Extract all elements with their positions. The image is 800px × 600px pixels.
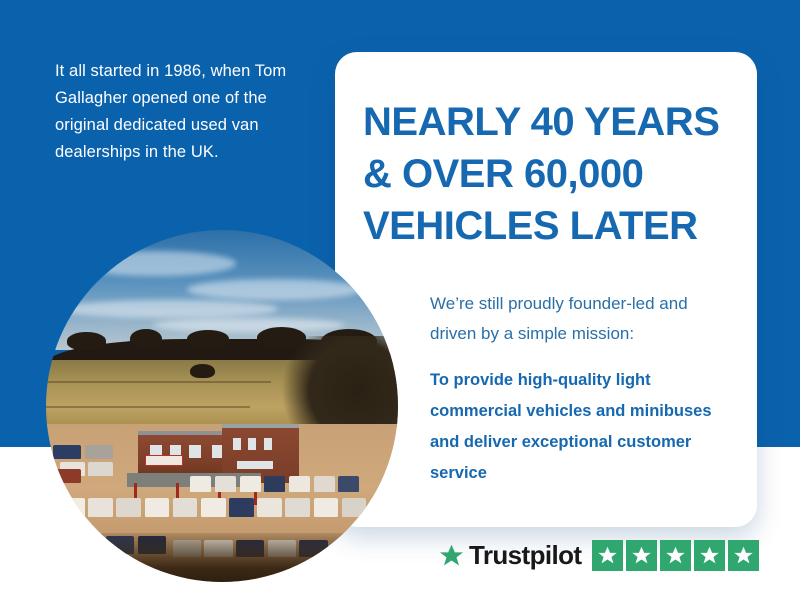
cloud-shape: [152, 318, 346, 332]
mission-statement: To provide high-quality light commercial…: [430, 365, 730, 489]
dealership-photo: [46, 230, 398, 582]
tree-shape: [190, 364, 215, 378]
star-icon: [733, 545, 754, 566]
trustpilot-rating[interactable]: Trustpilot: [438, 540, 759, 571]
star-icon: [631, 545, 652, 566]
trustpilot-star-icon: [438, 543, 465, 569]
content-card: NEARLY 40 YEARS & OVER 60,000 VEHICLES L…: [335, 52, 757, 527]
van-shape: [229, 498, 254, 517]
window-shape: [233, 438, 241, 450]
right-treeline: [264, 336, 398, 428]
van-shape: [88, 462, 113, 476]
van-shape: [53, 445, 81, 459]
van-shape: [314, 498, 339, 517]
van-shape: [60, 498, 85, 517]
van-shape: [257, 498, 282, 517]
van-shape: [314, 476, 335, 492]
window-shape: [264, 438, 272, 450]
cloud-shape: [74, 251, 236, 276]
trustpilot-logo[interactable]: Trustpilot: [438, 540, 581, 571]
van-shape: [215, 476, 236, 492]
rating-star-4: [694, 540, 725, 571]
star-icon: [665, 545, 686, 566]
van-shape: [240, 476, 261, 492]
van-shape: [342, 498, 367, 517]
photo-illustration: [46, 230, 398, 582]
field-boundary: [46, 406, 250, 408]
star-icon: [699, 545, 720, 566]
van-shape: [285, 498, 310, 517]
rating-star-5: [728, 540, 759, 571]
rating-star-2: [626, 540, 657, 571]
window-shape: [189, 445, 200, 458]
van-shape: [190, 476, 211, 492]
tree-shape: [130, 329, 162, 348]
tree-shape: [67, 332, 106, 350]
window-shape: [237, 461, 273, 469]
rating-star-1: [592, 540, 623, 571]
window-shape: [248, 438, 256, 450]
tree-shape: [187, 330, 229, 348]
rating-star-3: [660, 540, 691, 571]
foreground-shadow: [46, 533, 398, 582]
van-shape: [88, 498, 113, 517]
trustpilot-wordmark: Trustpilot: [469, 540, 581, 571]
van-shape: [338, 476, 359, 492]
cloud-shape: [60, 300, 278, 318]
subtext: We’re still proudly founder-led and driv…: [430, 289, 730, 349]
van-shape: [145, 498, 170, 517]
van-shape: [201, 498, 226, 517]
page-title: NEARLY 40 YEARS & OVER 60,000 VEHICLES L…: [363, 96, 733, 252]
van-shape: [173, 498, 198, 517]
van-shape: [85, 445, 113, 459]
van-shape: [289, 476, 310, 492]
star-rating-group: [592, 540, 759, 571]
van-shape: [264, 476, 285, 492]
van-shape: [50, 469, 82, 483]
field-boundary: [46, 381, 271, 383]
star-icon: [597, 545, 618, 566]
van-shape: [116, 498, 141, 517]
building-signage: [145, 455, 184, 466]
intro-paragraph: It all started in 1986, when Tom Gallagh…: [55, 58, 310, 166]
